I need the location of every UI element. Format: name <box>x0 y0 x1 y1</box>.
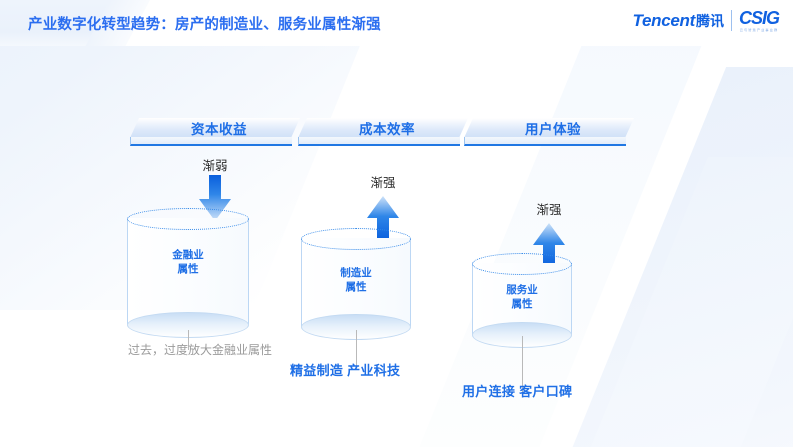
cylinder-label-line2: 属性 <box>472 297 572 311</box>
plate-user-experience: 用户体验 <box>464 118 634 148</box>
cylinder-label-line1: 服务业 <box>472 283 572 297</box>
plate-front-face <box>464 137 626 146</box>
cylinder-top-ellipse <box>127 208 249 230</box>
slide-canvas: 产业数字化转型趋势：房产的制造业、服务业属性渐强 Tencent腾讯 CSIG … <box>0 0 793 447</box>
cylinder-label-line1: 金融业 <box>127 248 249 262</box>
cylinder-label: 金融业 属性 <box>127 248 249 276</box>
cylinder-label: 制造业 属性 <box>301 266 411 294</box>
brand-divider <box>731 10 732 31</box>
cylinder-manufacturing: 制造业 属性 <box>301 228 411 340</box>
column-user-experience: 用户体验 渐强 服务业 属性 <box>418 0 678 447</box>
cylinder-top-ellipse <box>472 253 572 275</box>
cylinder-label-line1: 制造业 <box>301 266 411 280</box>
cylinder-label-line2: 属性 <box>127 262 249 276</box>
cylinder-top-ellipse <box>301 228 411 250</box>
csig-logo-sub: 云与智慧产业事业群 <box>740 29 779 32</box>
caption-user-connection: 用户连接 客户口碑 <box>462 381 572 400</box>
caption-lean-manufacturing: 精益制造 产业科技 <box>290 360 400 379</box>
cylinder-label: 服务业 属性 <box>472 283 572 311</box>
trend-label: 渐强 <box>464 199 634 218</box>
csig-logo-main: CSIG <box>739 9 779 27</box>
tencent-logo-cn: 腾讯 <box>696 13 724 29</box>
csig-logo: CSIG 云与智慧产业事业群 <box>739 9 779 32</box>
plate-label: 用户体验 <box>464 118 634 138</box>
cylinder-finance: 金融业 属性 <box>127 208 249 338</box>
cylinder-label-line2: 属性 <box>301 280 411 294</box>
caption-past-finance: 过去，过度放大金融业属性 <box>128 341 272 358</box>
cylinder-service: 服务业 属性 <box>472 253 572 348</box>
